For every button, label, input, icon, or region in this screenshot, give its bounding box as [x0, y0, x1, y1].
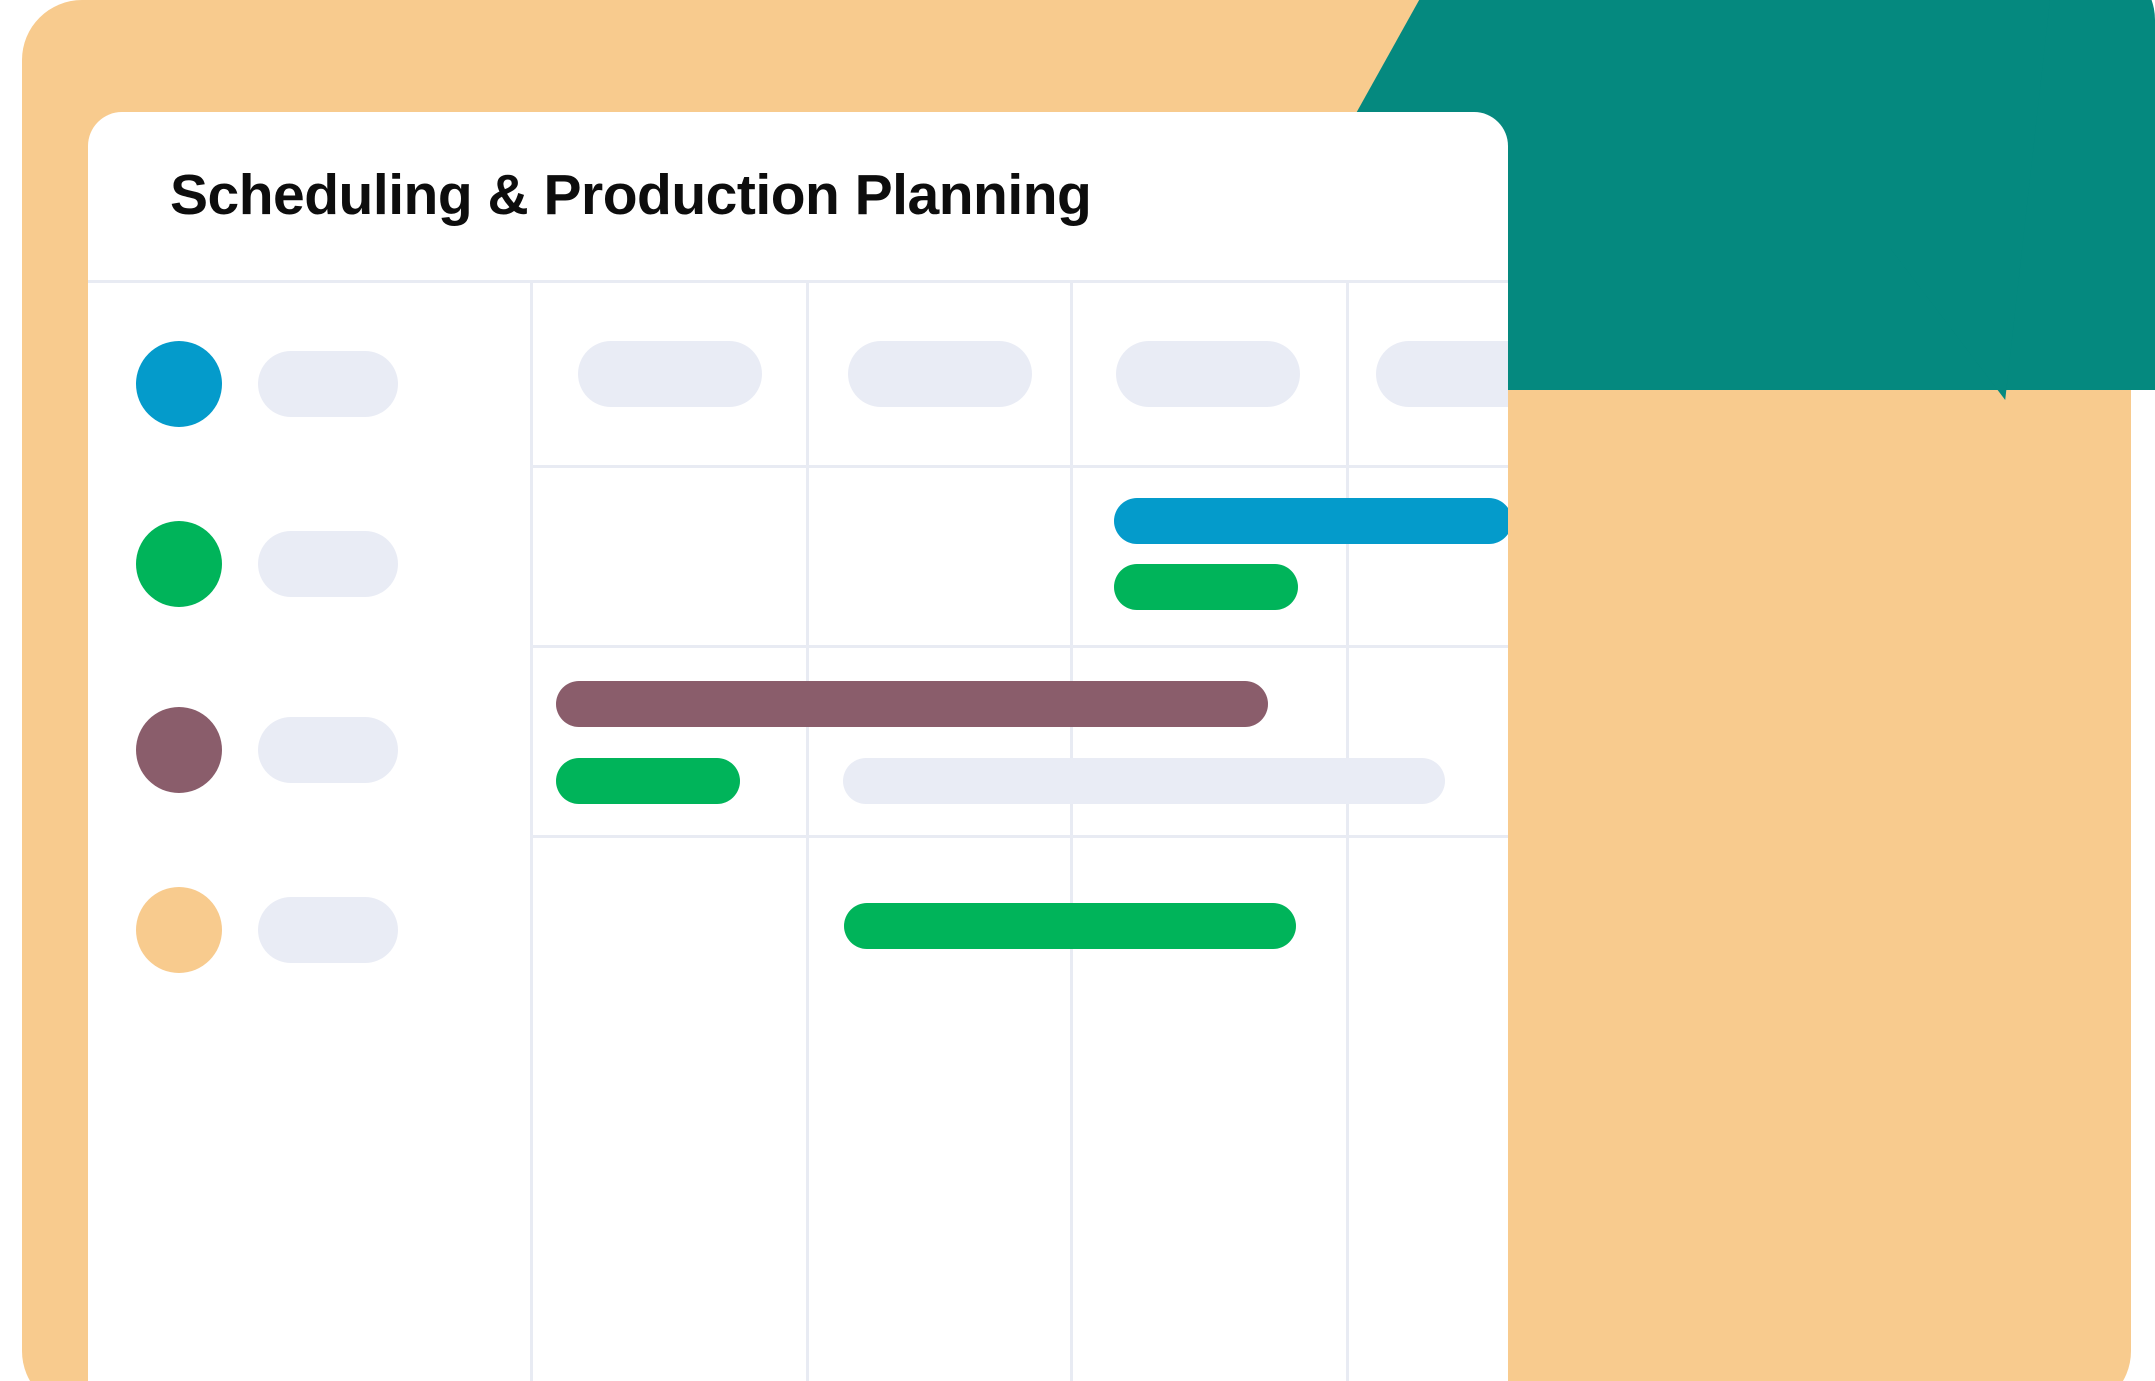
gantt-row-row-3[interactable]	[136, 707, 398, 793]
task-bar-green-long[interactable]	[844, 903, 1296, 949]
gantt-column-separator-3	[1070, 283, 1073, 1381]
row-marker-green	[136, 521, 222, 607]
row-label-placeholder-1	[258, 351, 398, 417]
gantt-row-separator-1	[530, 465, 1508, 468]
task-bar-green-short[interactable]	[556, 758, 740, 804]
gantt-row-row-2[interactable]	[136, 521, 398, 607]
row-label-placeholder-4	[258, 897, 398, 963]
gantt-row-separator-3	[530, 835, 1508, 838]
gantt-chart[interactable]	[88, 283, 1508, 1381]
row-label-placeholder-2	[258, 531, 398, 597]
header-placeholder-4	[1376, 341, 1508, 407]
planning-card: Scheduling & Production Planning	[88, 112, 1508, 1381]
screenshot-stage: Scheduling & Production Planning	[0, 0, 2155, 1381]
gantt-column-separator-4	[1346, 283, 1349, 1381]
task-bar-mauve[interactable]	[556, 681, 1268, 727]
row-marker-blue	[136, 341, 222, 427]
gantt-row-row-1[interactable]	[136, 341, 398, 427]
gantt-column-separator-2	[806, 283, 809, 1381]
header-placeholder-1	[578, 341, 762, 407]
header-placeholder-2	[848, 341, 1032, 407]
gantt-row-row-4[interactable]	[136, 887, 398, 973]
row-label-placeholder-3	[258, 717, 398, 783]
task-bar-green[interactable]	[1114, 564, 1298, 610]
page-title: Scheduling & Production Planning	[170, 162, 1091, 228]
row-marker-mauve	[136, 707, 222, 793]
row-marker-peach	[136, 887, 222, 973]
header-placeholder-3	[1116, 341, 1300, 407]
task-bar-placeholder-grey[interactable]	[843, 758, 1445, 804]
gantt-column-separator-1	[530, 283, 533, 1381]
gantt-row-separator-2	[530, 645, 1508, 648]
task-bar-blue[interactable]	[1114, 498, 1508, 544]
card-header: Scheduling & Production Planning	[88, 112, 1508, 277]
